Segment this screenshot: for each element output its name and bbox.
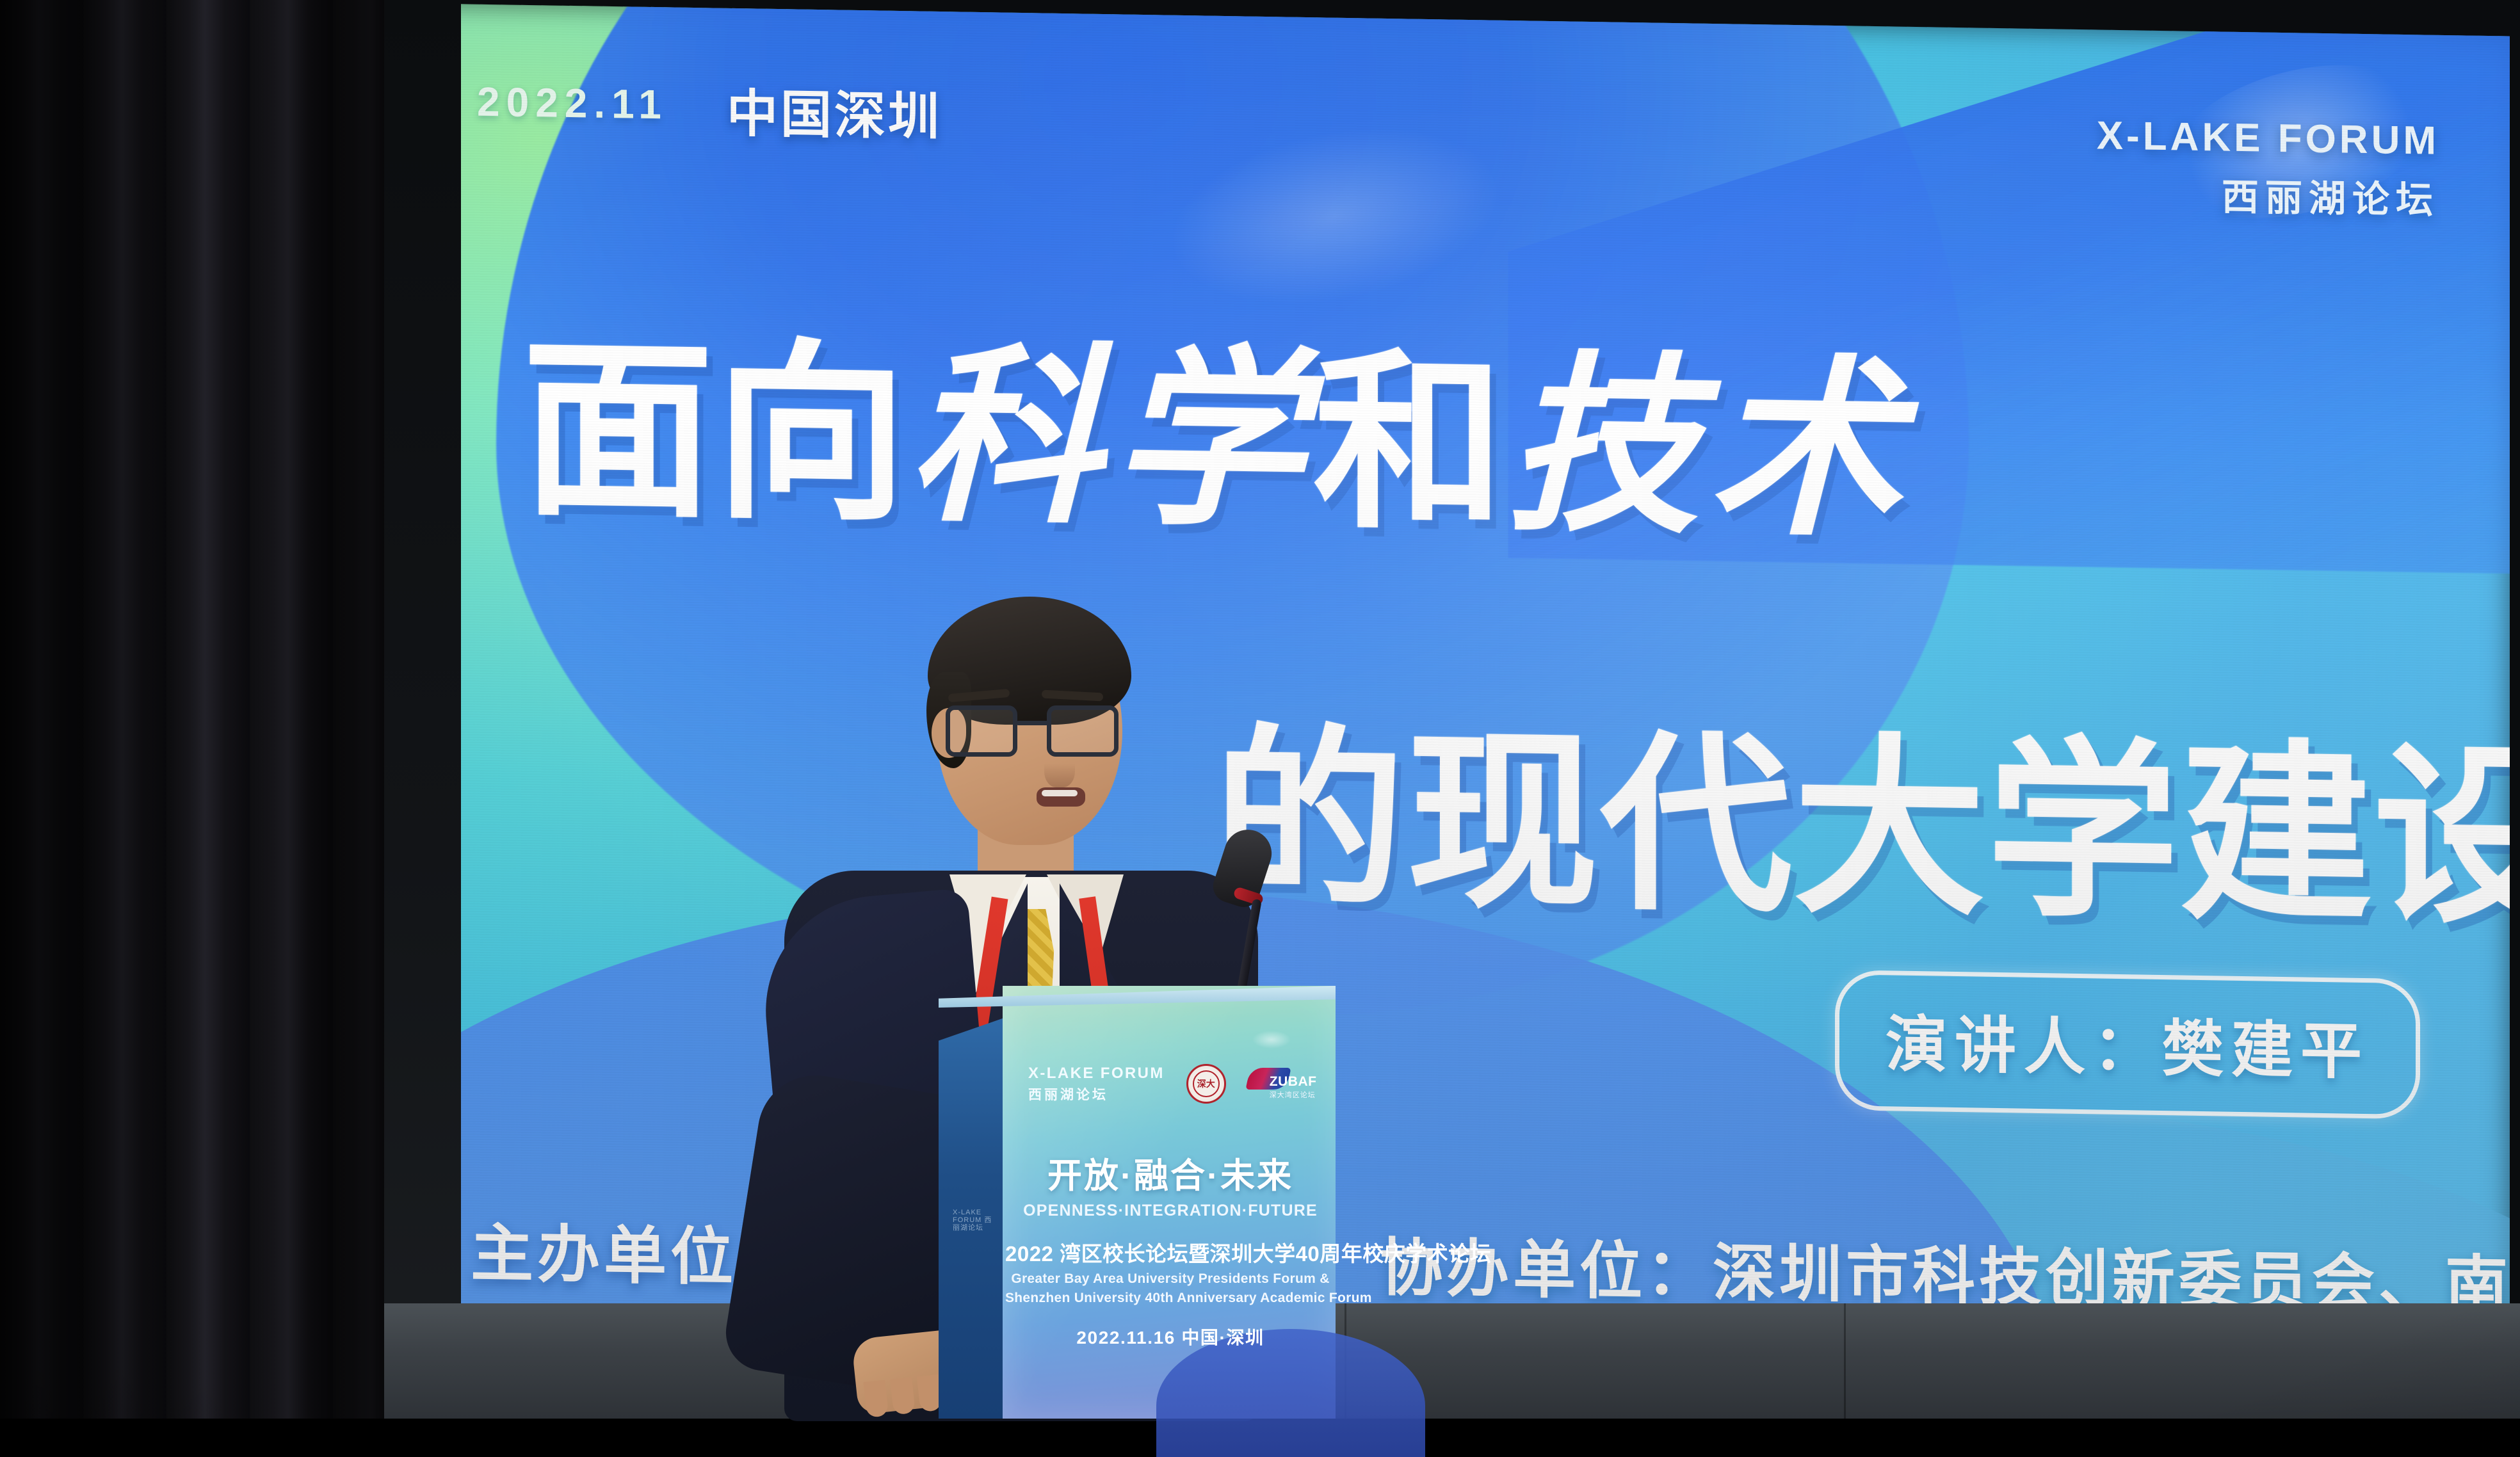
podium-side-panel: X-LAKE FORUM 西丽湖论坛 (939, 1017, 1008, 1419)
nose (1044, 748, 1075, 787)
podium-xlake-logo-en: X-LAKE FORUM (1028, 1065, 1165, 1083)
podium-xlake-logo-cn: 西丽湖论坛 (1028, 1084, 1165, 1104)
stage-scene: 2022.11 中国深圳 X-LAKE FORUM 西丽湖论坛 面向科学和技术 … (0, 0, 2520, 1419)
title-segment-gothic-2: 和 (1313, 334, 1506, 552)
slide-date: 2022.11 (477, 78, 668, 129)
szubaf-logo-subtext: 深大湾区论坛 (1270, 1090, 1316, 1100)
shenzhen-university-seal-icon: 深大 (1186, 1064, 1226, 1104)
podium-side-logo-text: X-LAKE FORUM 西丽湖论坛 (953, 1209, 997, 1279)
speaker-name-badge: 演讲人：樊建平 (1835, 970, 2420, 1119)
slide-title-line-2: 的现代大学建设 (1213, 663, 2510, 962)
projection-screen: 2022.11 中国深圳 X-LAKE FORUM 西丽湖论坛 面向科学和技术 … (368, 3, 2510, 1372)
mouth (1037, 787, 1085, 807)
title-segment-gothic-1: 面向 (522, 322, 909, 543)
podium-highlight-dot (1252, 1031, 1291, 1049)
slide-title-line-1: 面向科学和技术 (522, 274, 1911, 574)
podium-event-title-cn: 2022 湾区校长论坛暨深圳大学40周年校庆学术论坛 (1005, 1237, 1336, 1268)
brand-name-cn: 西丽湖论坛 (2097, 165, 2439, 223)
szubaf-logo-icon: ZUBAF 深大湾区论坛 (1248, 1064, 1322, 1104)
title-segment-cursive-1: 科学 (909, 321, 1313, 554)
xlake-forum-brand: X-LAKE FORUM 西丽湖论坛 (2097, 113, 2439, 223)
podium-slogan-cn: 开放·融合·未来 (1010, 1147, 1330, 1198)
title-segment-cursive-2: 技术 (1506, 331, 1911, 563)
finger (890, 1377, 916, 1415)
slide-content-layer: 2022.11 中国深圳 X-LAKE FORUM 西丽湖论坛 面向科学和技术 … (368, 3, 2510, 1372)
lens-left (946, 705, 1017, 757)
szu-seal-mark: 深大 (1197, 1077, 1215, 1090)
podium-slogan-en: OPENNESS·INTEGRATION·FUTURE (1010, 1202, 1330, 1220)
wall-panel-seam (1844, 1303, 1846, 1419)
podium-event-title-en-1: Greater Bay Area University Presidents F… (1005, 1271, 1336, 1287)
podium-xlake-logo: X-LAKE FORUM 西丽湖论坛 (1028, 1065, 1165, 1104)
brand-name-en: X-LAKE FORUM (2097, 113, 2439, 163)
glasses-bridge (1016, 721, 1049, 725)
stage-wall-bottom (359, 1303, 2520, 1419)
podium-event-title-en-2: Shenzhen University 40th Anniversary Aca… (1005, 1291, 1336, 1306)
podium: X-LAKE FORUM 西丽湖论坛 X-LAKE FORUM 西丽湖论坛 深大… (939, 986, 1336, 1419)
podium-slogan: 开放·融合·未来 OPENNESS·INTEGRATION·FUTURE (1010, 1147, 1330, 1220)
podium-logo-row: X-LAKE FORUM 西丽湖论坛 深大 ZUBAF 深大湾区论坛 (1028, 1064, 1310, 1104)
szubaf-logo-text: ZUBAF (1270, 1074, 1317, 1090)
slide-city: 中国深圳 (727, 72, 942, 150)
glasses-icon (946, 705, 1119, 761)
slide-title: 面向科学和技术 的现代大学建设 (368, 3, 2510, 36)
podium-event-block: 2022 湾区校长论坛暨深圳大学40周年校庆学术论坛 Greater Bay A… (1005, 1237, 1336, 1306)
podium-event-date: 2022.11.16 中国·深圳 (1005, 1324, 1336, 1349)
stage-curtain-left (0, 0, 384, 1419)
